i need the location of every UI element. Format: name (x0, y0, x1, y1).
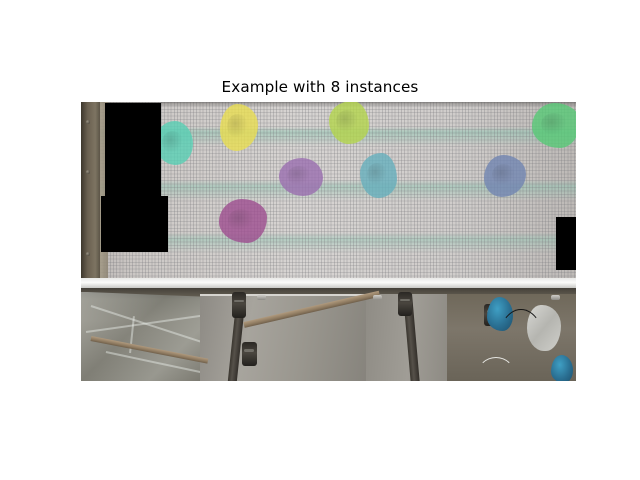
page-title: Example with 8 instances (0, 78, 640, 96)
machine-frame-left (81, 102, 100, 278)
instance-mask (219, 199, 267, 243)
instance-mask-shading (492, 164, 515, 185)
clamp (232, 292, 246, 318)
metal-chute (200, 294, 368, 381)
machine-lower-section (81, 288, 576, 381)
instance-mask (360, 153, 397, 198)
instance-mask-shading (227, 114, 248, 138)
instance-mask (532, 103, 576, 148)
plastic-sheeting (81, 292, 215, 381)
instance-mask-shading (336, 110, 358, 132)
redaction-lower-left (101, 196, 168, 252)
instance-mask-shading (162, 131, 183, 153)
bolt-plate (257, 295, 266, 300)
image-axes (81, 102, 576, 381)
redaction-upper-left (105, 103, 161, 196)
bolt-icon (86, 120, 90, 124)
metal-chute-edge (200, 294, 368, 296)
bolt-plate (551, 295, 560, 300)
instance-mask (484, 155, 526, 197)
conveyor-rail (81, 278, 576, 288)
bolt-icon (86, 170, 90, 174)
instance-mask-shading (228, 209, 254, 231)
clamp (242, 342, 257, 366)
instance-mask (220, 104, 258, 151)
instance-mask (279, 158, 323, 196)
bolt-icon (86, 252, 90, 256)
clamp (398, 292, 412, 316)
redaction-right (556, 217, 576, 270)
bolt-plate (373, 295, 382, 300)
matplotlib-figure: Example with 8 instances (0, 0, 640, 480)
instance-mask (329, 102, 369, 144)
